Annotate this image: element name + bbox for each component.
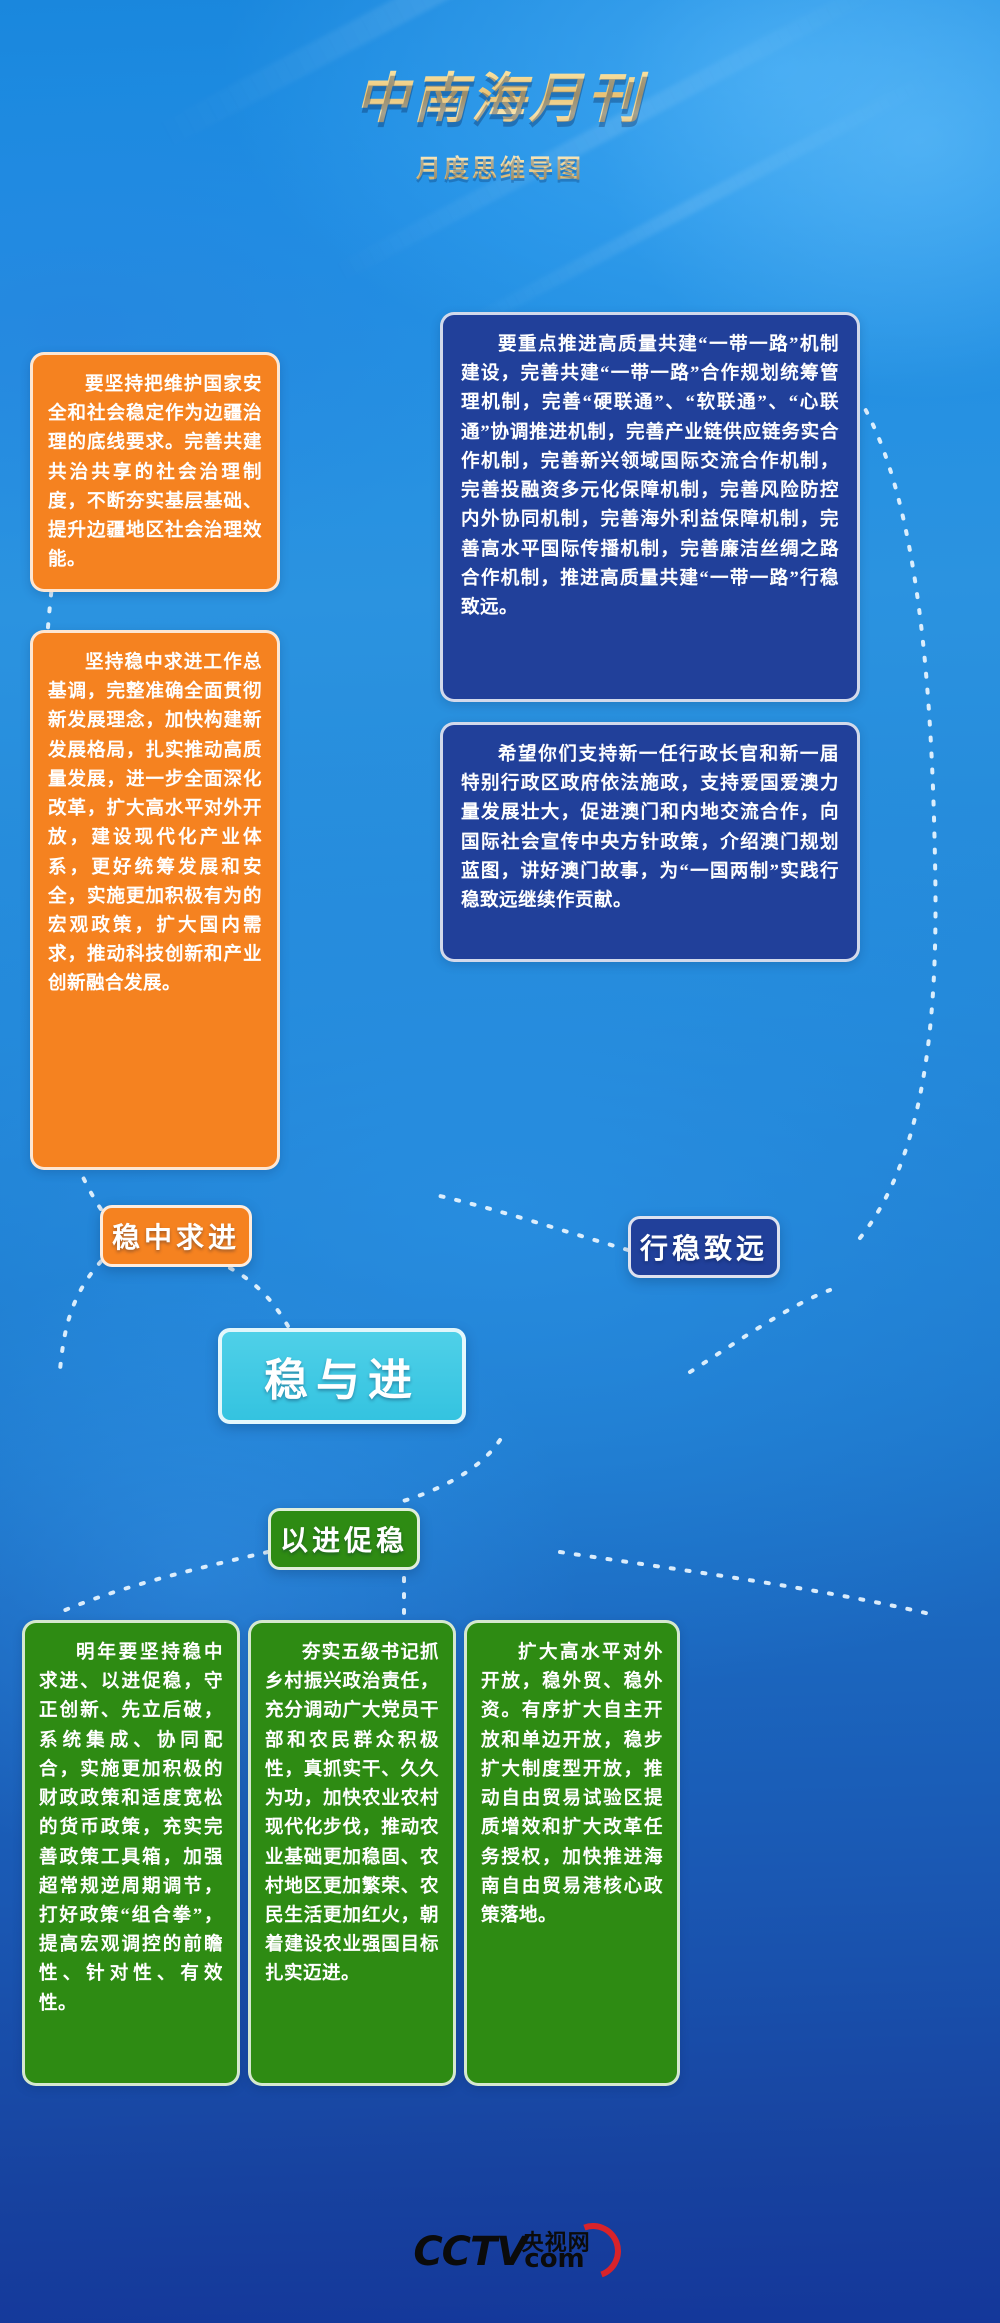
branch-label-xing-wen-zhi-yuan[interactable]: 行稳致远 [628,1216,780,1278]
card-yi-jin-cu-wen-3: 扩大高水平对外开放，稳外贸、稳外资。有序扩大自主开放和单边开放，稳步扩大制度型开… [464,1620,680,2086]
cctv-wordmark: CCTV [413,2229,526,2275]
card-text: 夯实五级书记抓乡村振兴政治责任，充分调动广大党员干部和农民群众积极性，真抓实干、… [265,1639,439,1990]
card-text: 坚持稳中求进工作总基调，完整准确全面贯彻新发展理念，加快构建新发展格局，扎实推动… [48,649,262,1000]
page-title: 中南海月刊 [349,52,651,135]
branch-label-text: 行稳致远 [640,1227,768,1267]
branch-label-text: 以进促稳 [280,1519,408,1559]
center-node-label: 稳与进 [264,1344,420,1408]
card-yi-jin-cu-wen-1: 明年要坚持稳中求进、以进促稳，守正创新、先立后破，系统集成、协同配合，实施更加积… [22,1620,240,2086]
branch-label-text: 稳中求进 [112,1216,240,1256]
card-xing-wen-zhi-yuan-1: 要重点推进高质量共建“一带一路”机制建设，完善共建“一带一路”合作规划统筹管理机… [440,312,860,702]
card-wen-zhong-qiu-jin-1: 要坚持把维护国家安全和社会稳定作为边疆治理的底线要求。完善共建共治共享的社会治理… [30,352,280,592]
branch-label-wen-zhong-qiu-jin[interactable]: 稳中求进 [100,1205,252,1267]
infographic-root: 中南海月刊 月度思维导图 要坚持把维护国家安全和社会稳定作为边疆治理的底线要求。… [0,0,1000,2323]
card-text: 要重点推进高质量共建“一带一路”机制建设，完善共建“一带一路”合作规划统筹管理机… [461,331,839,623]
card-text: 明年要坚持稳中求进、以进促稳，守正创新、先立后破，系统集成、协同配合，实施更加积… [39,1639,223,2019]
card-yi-jin-cu-wen-2: 夯实五级书记抓乡村振兴政治责任，充分调动广大党员干部和农民群众积极性，真抓实干、… [248,1620,456,2086]
card-wen-zhong-qiu-jin-2: 坚持稳中求进工作总基调，完整准确全面贯彻新发展理念，加快构建新发展格局，扎实推动… [30,630,280,1170]
page-subtitle: 月度思维导图 [0,149,1000,185]
header: 中南海月刊 月度思维导图 [0,52,1000,185]
cctv-cn-name: 央视网 [522,2225,591,2257]
card-xing-wen-zhi-yuan-2: 希望你们支持新一任行政长官和新一届特别行政区政府依法施政，支持爱国爱澳力量发展壮… [440,722,860,962]
center-node[interactable]: 稳与进 [218,1328,466,1424]
cctv-logo: CCTVcom 央视网 [413,2229,586,2283]
card-text: 要坚持把维护国家安全和社会稳定作为边疆治理的底线要求。完善共建共治共享的社会治理… [48,371,262,576]
card-text: 扩大高水平对外开放，稳外贸、稳外资。有序扩大自主开放和单边开放，稳步扩大制度型开… [481,1639,663,1931]
branch-label-yi-jin-cu-wen[interactable]: 以进促稳 [268,1508,420,1570]
footer: CCTVcom 央视网 [0,2229,1000,2283]
card-text: 希望你们支持新一任行政长官和新一届特别行政区政府依法施政，支持爱国爱澳力量发展壮… [461,741,839,916]
